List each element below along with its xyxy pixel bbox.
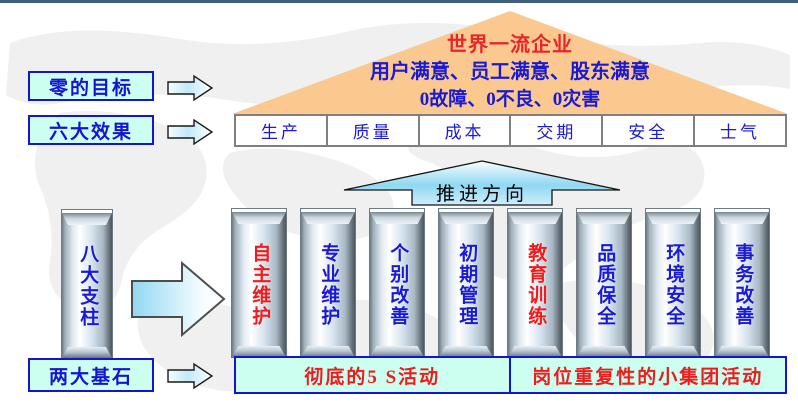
pillar-office-improvement: 事务改善 bbox=[715, 209, 769, 357]
pillar-environment-safety: 环境安全 bbox=[646, 209, 700, 357]
pillar-quality-maintenance: 品质保全 bbox=[577, 209, 631, 357]
pillar-cap bbox=[577, 212, 631, 224]
pillar-cap bbox=[715, 212, 769, 224]
pillar-label: 事务改善 bbox=[732, 243, 753, 327]
arrow-six-effects bbox=[167, 119, 213, 145]
left-pillar-label: 八大支柱 bbox=[77, 244, 98, 328]
effect-label: 安全 bbox=[628, 118, 668, 143]
pillar-cap bbox=[370, 212, 424, 224]
effect-label: 士气 bbox=[720, 118, 760, 143]
foundation-row: 彻底的5 S活动 岗位重复性的小集团活动 bbox=[234, 356, 787, 394]
promotion-direction-label: 推进方向 bbox=[343, 179, 621, 206]
pillar-cap bbox=[646, 212, 700, 224]
pillar-label: 专业维护 bbox=[318, 243, 339, 327]
effect-cell-cost: 成本 bbox=[420, 116, 512, 145]
roof-vision-title: 世界一流企业 bbox=[232, 35, 788, 55]
label-six-effects: 六大效果 bbox=[28, 115, 154, 145]
pillar-cap bbox=[508, 212, 562, 224]
roof-satisfaction-line: 用户满意、员工满意、股东满意 bbox=[232, 62, 788, 82]
pillar-early-management: 初期管理 bbox=[439, 209, 493, 357]
arrow-zero-goal bbox=[167, 75, 213, 101]
pillar-label: 初期管理 bbox=[456, 243, 477, 327]
pillar-cap bbox=[232, 212, 286, 224]
roof-triangle: 世界一流企业 用户满意、员工满意、股东满意 0故障、0不良、0灾害 bbox=[232, 11, 788, 114]
arrow-two-foundations bbox=[167, 363, 213, 389]
pillar-education-training: 教育训练 bbox=[508, 209, 562, 357]
pillar-foot bbox=[62, 347, 112, 358]
roof-zero-line: 0故障、0不良、0灾害 bbox=[232, 90, 788, 109]
pillar-label: 自主维护 bbox=[249, 243, 270, 327]
promotion-direction-arrow: 推进方向 bbox=[343, 160, 621, 206]
effect-cell-delivery: 交期 bbox=[511, 116, 603, 145]
label-two-foundations: 两大基石 bbox=[28, 358, 154, 392]
pillar-cap bbox=[301, 212, 355, 224]
pillar-focused-improvement: 个别改善 bbox=[370, 209, 424, 357]
label-two-foundations-text: 两大基石 bbox=[49, 362, 133, 389]
foundation-5s-activity: 彻底的5 S活动 bbox=[236, 358, 511, 392]
pillar-label: 个别改善 bbox=[387, 243, 408, 327]
pillar-cap bbox=[62, 213, 112, 225]
left-pillar-eight-pillars: 八大支柱 bbox=[62, 210, 112, 358]
foundation-label: 岗位重复性的小集团活动 bbox=[532, 362, 763, 389]
arrow-to-pillars bbox=[130, 261, 226, 337]
label-zero-goal: 零的目标 bbox=[28, 71, 154, 101]
pillar-professional-maintenance: 专业维护 bbox=[301, 209, 355, 357]
effect-label: 质量 bbox=[353, 118, 393, 143]
effect-cell-production: 生产 bbox=[236, 116, 328, 145]
effect-label: 成本 bbox=[445, 118, 485, 143]
pillar-label: 品质保全 bbox=[594, 243, 615, 327]
foundation-label: 彻底的5 S活动 bbox=[304, 362, 440, 389]
pillar-label: 教育训练 bbox=[525, 243, 546, 327]
effect-cell-safety: 安全 bbox=[603, 116, 695, 145]
label-six-effects-text: 六大效果 bbox=[49, 117, 133, 144]
foundation-small-group-activity: 岗位重复性的小集团活动 bbox=[511, 358, 786, 392]
label-zero-goal-text: 零的目标 bbox=[49, 73, 133, 100]
pillar-autonomous-maintenance: 自主维护 bbox=[232, 209, 286, 357]
effect-cell-morale: 士气 bbox=[695, 116, 785, 145]
effect-label: 生产 bbox=[261, 118, 301, 143]
effect-cell-quality: 质量 bbox=[328, 116, 420, 145]
pillar-cap bbox=[439, 212, 493, 224]
effect-label: 交期 bbox=[536, 118, 576, 143]
tpm-house-diagram: 零的目标 六大效果 世界一流企业 用户满意、员工满意、股东满意 0故障、0不良、… bbox=[0, 0, 798, 410]
six-effects-table: 生产 质量 成本 交期 安全 士气 bbox=[234, 114, 787, 147]
pillar-label: 环境安全 bbox=[663, 243, 684, 327]
